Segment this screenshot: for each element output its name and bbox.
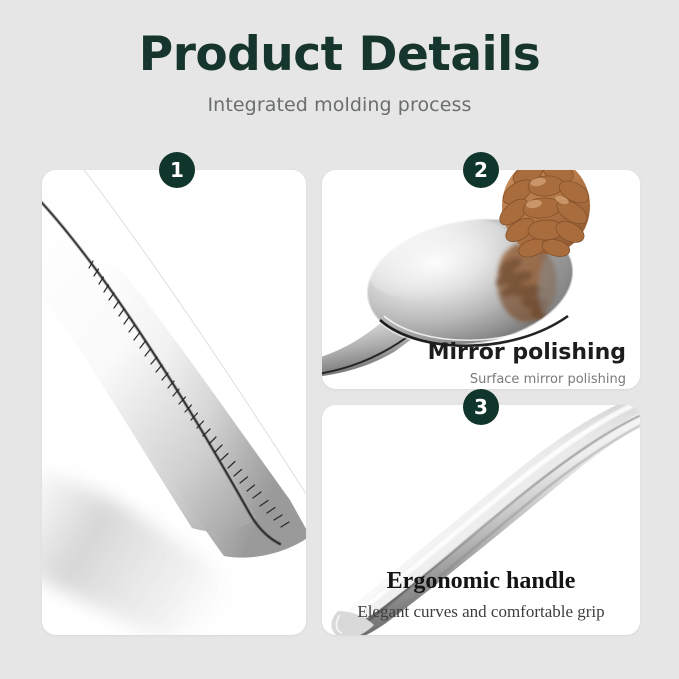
- pinecone: [495, 170, 592, 260]
- card-2-caption: Mirror polishing Surface mirror polishin…: [356, 340, 626, 389]
- step-badge-1: 1: [159, 152, 195, 188]
- header: Product Details Integrated molding proce…: [0, 28, 679, 116]
- card-2-subtitle: Surface mirror polishing: [356, 372, 626, 389]
- step-badge-2: 2: [463, 152, 499, 188]
- page-subtitle: Integrated molding process: [0, 94, 679, 116]
- card-2-title: Mirror polishing: [356, 340, 626, 366]
- card-3-caption: Ergonomic handle Elegant curves and comf…: [322, 567, 640, 623]
- product-details-infographic: Product Details Integrated molding proce…: [0, 0, 679, 679]
- page-title: Product Details: [0, 28, 679, 82]
- card-3-title: Ergonomic handle: [322, 567, 640, 596]
- card-3-subtitle: Elegant curves and comfortable grip: [322, 601, 640, 623]
- feature-card-sharp-blade-teeth[interactable]: Sharp blade teeth Sharp blade teeth easi…: [42, 170, 306, 635]
- step-badge-3: 3: [463, 389, 499, 425]
- feature-card-ergonomic-handle[interactable]: Ergonomic handle Elegant curves and comf…: [322, 405, 640, 635]
- feature-card-mirror-polishing[interactable]: Mirror polishing Surface mirror polishin…: [322, 170, 640, 389]
- knife-blade-image: [42, 170, 306, 635]
